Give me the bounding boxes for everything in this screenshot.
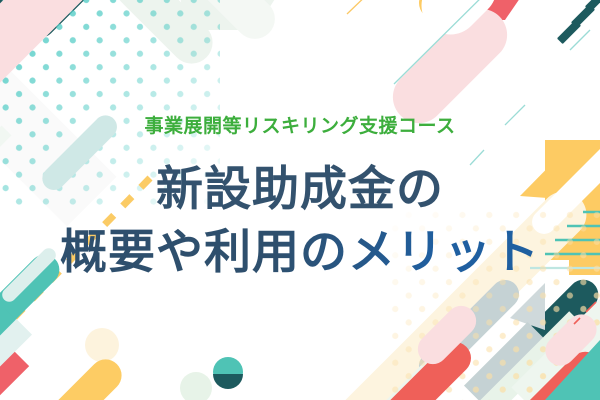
cream-circle-bottom-left (85, 328, 119, 362)
promo-banner: 事業展開等リスキリング支援コース 新設助成金の 概要や利用のメリット (0, 0, 600, 400)
decorative-background (0, 0, 600, 400)
two-tone-circle-bottom-center (213, 357, 243, 389)
